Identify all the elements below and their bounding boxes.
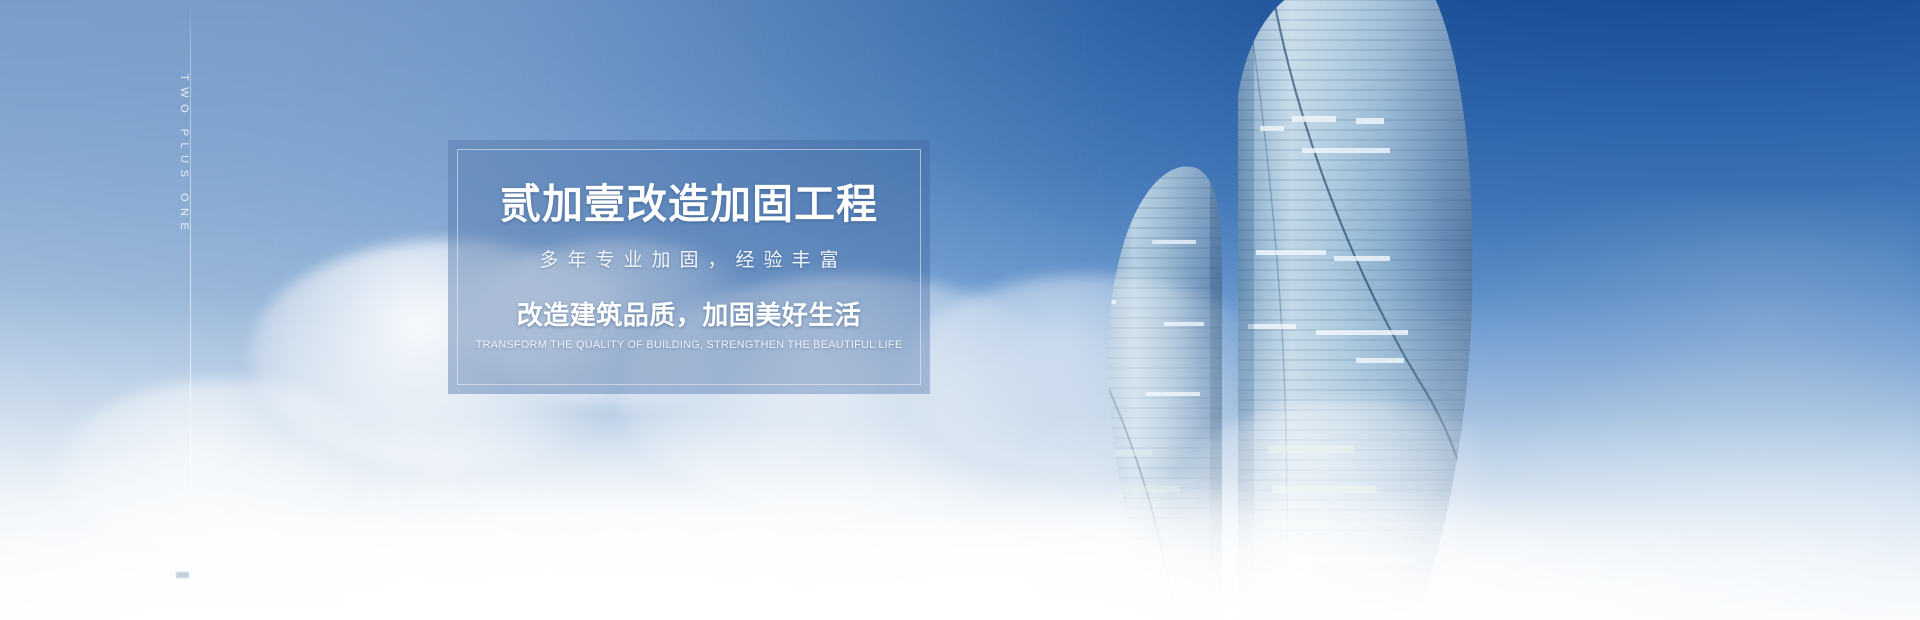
hero-headline: 贰加壹改造加固工程 (500, 184, 878, 225)
hero-subline: 多年专业加固，经验丰富 (530, 251, 847, 270)
panel-content: 贰加壹改造加固工程 多年专业加固，经验丰富 改造建筑品质，加固美好生活 TRAN… (448, 140, 930, 394)
hero-slogan-en: TRANSFORM THE QUALITY OF BUILDING, STREN… (476, 340, 903, 351)
hero-text-panel: 贰加壹改造加固工程 多年专业加固，经验丰富 改造建筑品质，加固美好生活 TRAN… (448, 140, 930, 394)
left-vertical-divider (190, 0, 191, 620)
vertical-brand-text: TWO PLUS ONE (178, 72, 190, 236)
hero-slogan-zh: 改造建筑品质，加固美好生活 (517, 302, 862, 328)
hero-banner: TWO PLUS ONE 贰加壹改造加固工程 多年专业加固，经验丰富 改造建筑品… (0, 0, 1920, 620)
faint-artifact-mark (176, 572, 189, 578)
cloud-band (0, 290, 1920, 620)
